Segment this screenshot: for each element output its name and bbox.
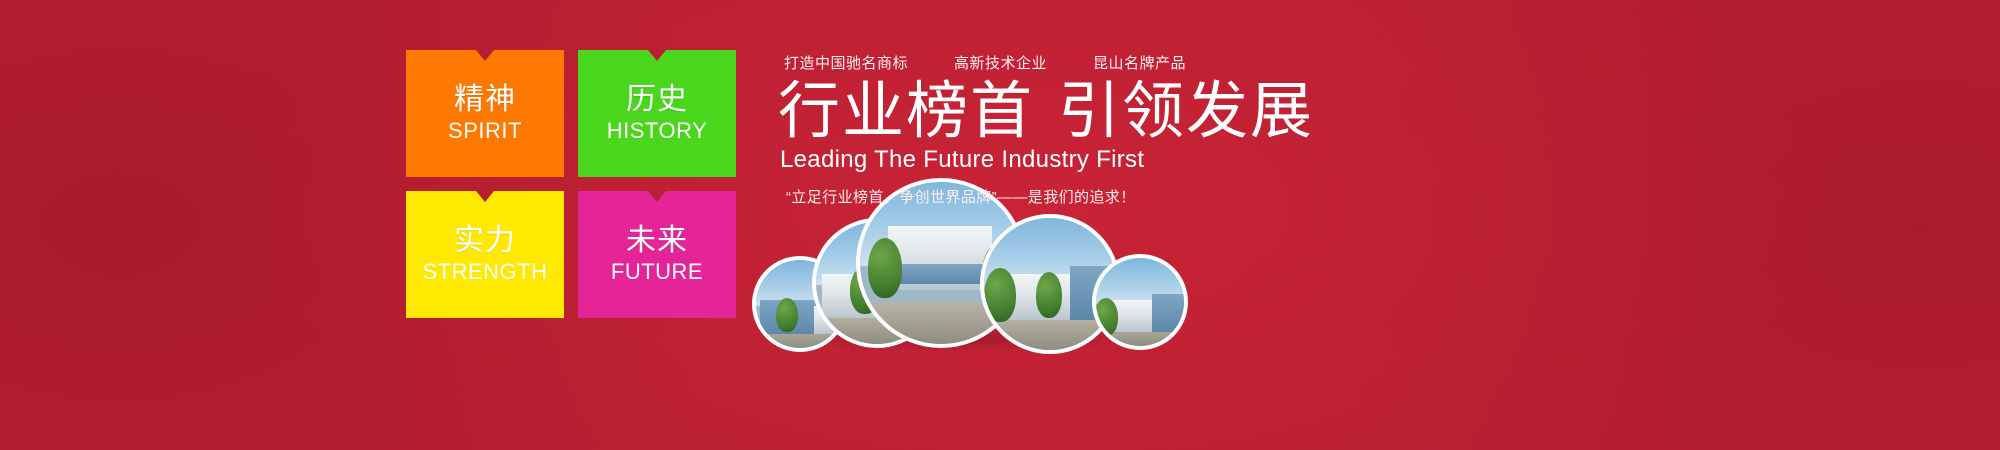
- slogan-quote: “立足行业榜首，争创世界品牌”——是我们的追求！: [778, 186, 1314, 207]
- tree-shape: [1094, 298, 1118, 336]
- tile-strength[interactable]: 实力 STRENGTH: [406, 191, 564, 318]
- tile-future-en: FUTURE: [611, 261, 703, 283]
- tile-history-cn: 历史: [626, 85, 688, 115]
- headline-copy-block: 打造中国驰名商标 高新技术企业 昆山名牌产品 行业榜首引领发展 Leading …: [778, 52, 1314, 207]
- page-title: 行业榜首引领发展: [778, 79, 1314, 144]
- tagline-1: 打造中国驰名商标: [784, 52, 908, 73]
- building-shape: [1152, 294, 1186, 332]
- notch-icon: [648, 50, 666, 61]
- value-tile-grid: 精神 SPIRIT 历史 HISTORY 实力 STRENGTH 未来 FUTU…: [406, 50, 736, 320]
- factory-photo-far-right: [1092, 254, 1188, 350]
- subtitle-english: Leading The Future Industry First: [778, 146, 1314, 174]
- tile-history-en: HISTORY: [607, 120, 708, 142]
- tile-strength-en: STRENGTH: [423, 261, 548, 283]
- tile-strength-cn: 实力: [454, 226, 516, 256]
- tree-shape: [868, 238, 902, 298]
- building-shape: [888, 264, 992, 284]
- tile-future[interactable]: 未来 FUTURE: [578, 191, 736, 318]
- tree-shape: [776, 298, 798, 332]
- tree-shape: [1036, 272, 1062, 318]
- notch-icon: [476, 191, 494, 202]
- tile-spirit-cn: 精神: [454, 85, 516, 115]
- headline-part-left: 行业榜首: [778, 77, 1034, 146]
- tile-spirit[interactable]: 精神 SPIRIT: [406, 50, 564, 177]
- tile-spirit-en: SPIRIT: [448, 120, 522, 142]
- tagline-row: 打造中国驰名商标 高新技术企业 昆山名牌产品: [778, 52, 1314, 73]
- promotional-banner: 精神 SPIRIT 历史 HISTORY 实力 STRENGTH 未来 FUTU…: [0, 0, 2000, 450]
- tagline-2: 高新技术企业: [954, 52, 1047, 73]
- tagline-3: 昆山名牌产品: [1093, 52, 1186, 73]
- tile-future-cn: 未来: [626, 226, 688, 256]
- headline-part-right: 引领发展: [1058, 77, 1314, 146]
- tree-shape: [984, 268, 1016, 322]
- tile-history[interactable]: 历史 HISTORY: [578, 50, 736, 177]
- notch-icon: [648, 191, 666, 202]
- notch-icon: [476, 50, 494, 61]
